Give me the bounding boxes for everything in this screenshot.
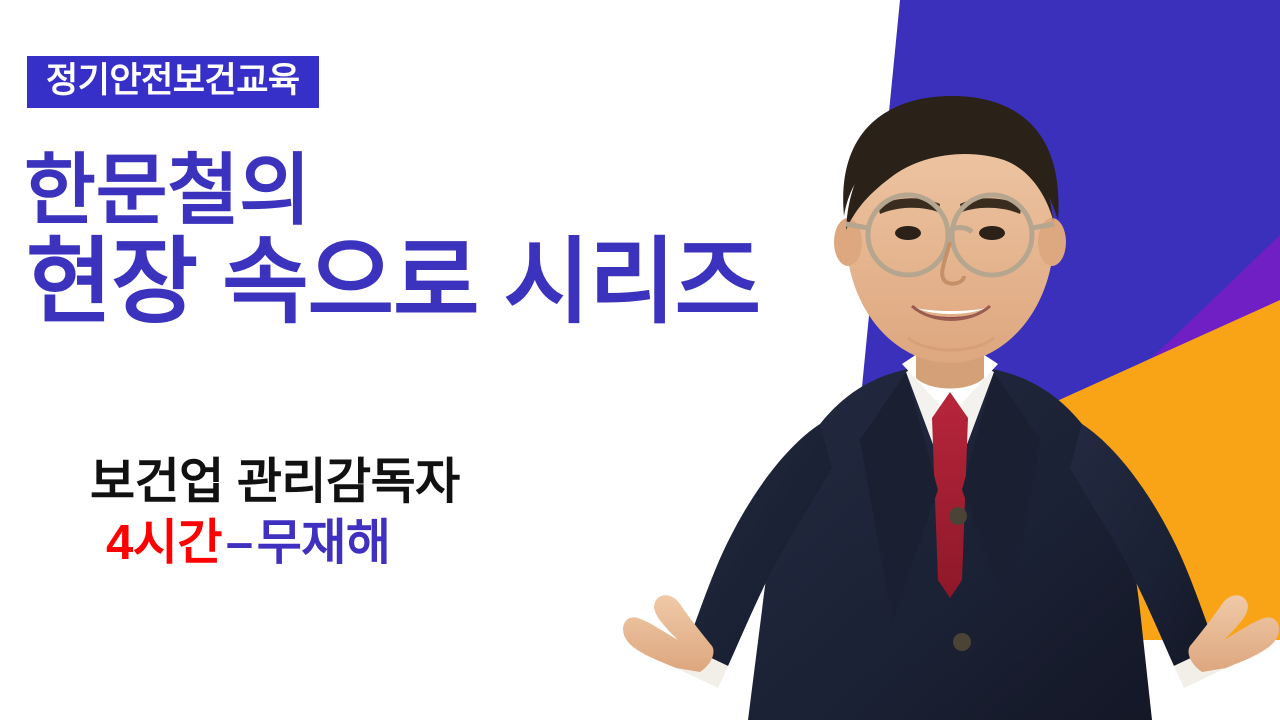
subtitle-hours: 4시간 — [106, 516, 222, 570]
subtitle-tail: 무재해 — [257, 516, 391, 570]
title-line-1: 한문철의 — [24, 152, 760, 228]
presenter-photo — [620, 20, 1280, 720]
subtitle-line-1: 보건업 관리감독자 — [90, 455, 460, 510]
page-title: 한문철의 현장 속으로 시리즈 — [24, 152, 760, 329]
subtitle-dash: – — [222, 516, 257, 570]
course-category-badge: 정기안전보건교육 — [27, 56, 319, 108]
subtitle-line-2: 4시간–무재해 — [106, 516, 460, 571]
title-line-2: 현장 속으로 시리즈 — [26, 236, 760, 328]
course-subtitle: 보건업 관리감독자 4시간–무재해 — [90, 455, 460, 571]
thumbnail-canvas: 정기안전보건교육 한문철의 현장 속으로 시리즈 보건업 관리감독자 4시간–무… — [0, 0, 1280, 720]
